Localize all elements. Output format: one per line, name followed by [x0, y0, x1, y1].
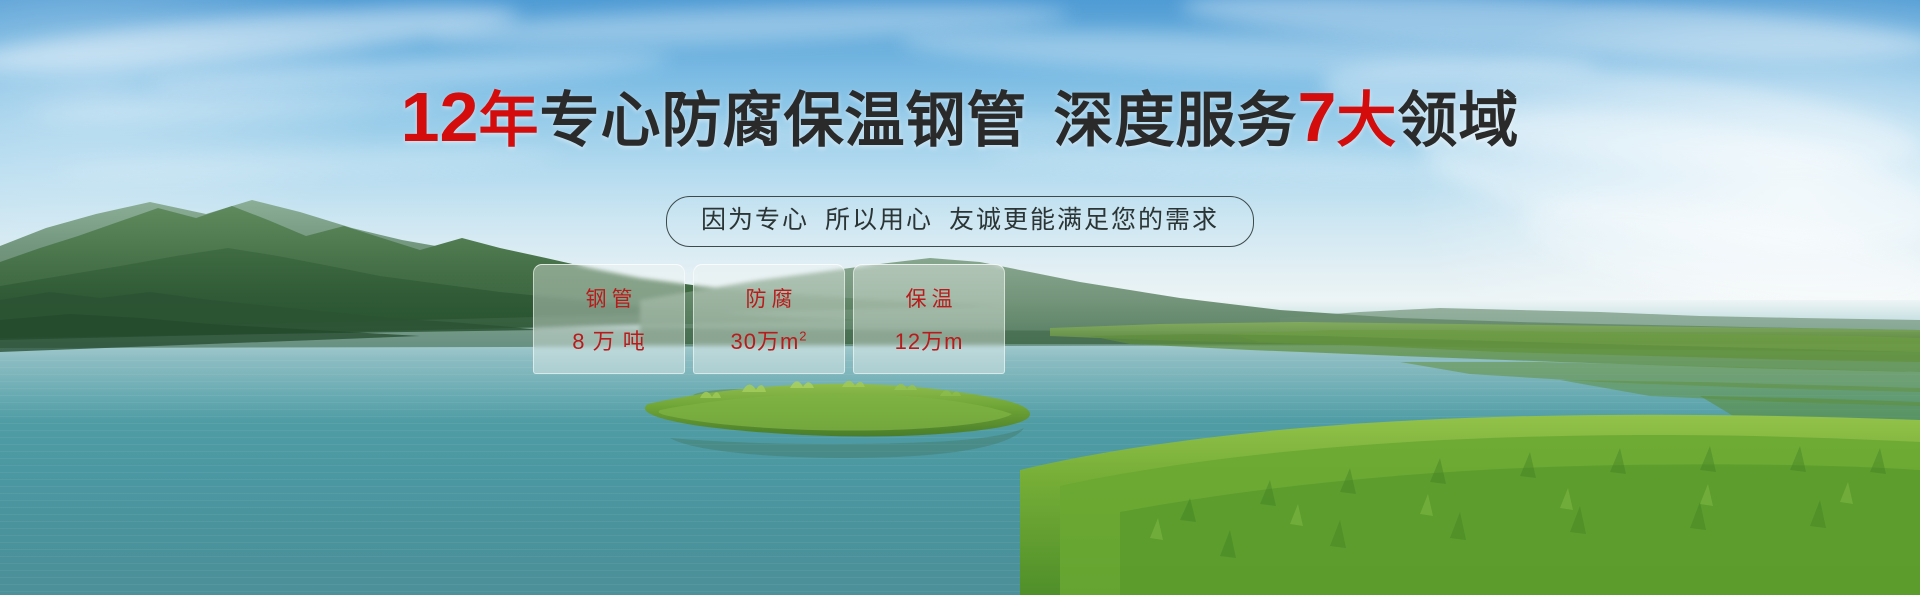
stat-card-title: 钢管: [581, 283, 638, 313]
stat-card-value-text: 30万m: [730, 329, 799, 354]
stat-card-steel-pipe[interactable]: 钢管 8 万 吨: [533, 264, 685, 374]
stat-card-value-text: 8 万 吨: [572, 329, 645, 354]
subtitle-part-3: 友诚更能满足您的需求: [949, 206, 1219, 234]
headline-service-text: 深度服务: [1053, 87, 1297, 154]
headline-years-number: 12: [401, 78, 479, 156]
headline-fields-unit: 大: [1336, 87, 1397, 154]
stat-card-value-superscript: 2: [799, 328, 807, 343]
headline-fields-number: 7: [1297, 78, 1336, 156]
stat-card-value: 12万m: [895, 324, 964, 356]
banner-subtitle-pill: 因为专心所以用心友诚更能满足您的需求: [666, 196, 1254, 247]
banner-subtitle-wrapper: 因为专心所以用心友诚更能满足您的需求: [0, 196, 1920, 247]
headline-main-text: 专心防腐保温钢管: [539, 87, 1027, 154]
subtitle-part-1: 因为专心: [701, 206, 809, 234]
hero-banner: 12年专心防腐保温钢管深度服务7大领域 因为专心所以用心友诚更能满足您的需求 钢…: [0, 0, 1920, 595]
stat-card-value-text: 12万m: [895, 329, 964, 354]
stat-card-value: 8 万 吨: [572, 324, 645, 356]
subtitle-part-2: 所以用心: [825, 206, 933, 234]
headline-tail-text: 领域: [1397, 87, 1519, 154]
stat-card-insulation[interactable]: 保温 12万m: [853, 264, 1005, 374]
stat-card-title: 保温: [901, 283, 958, 313]
stat-card-value: 30万m2: [730, 324, 807, 356]
banner-headline: 12年专心防腐保温钢管深度服务7大领域: [0, 82, 1920, 152]
stat-card-list: 钢管 8 万 吨 防腐 30万m2 保温 12万m: [533, 264, 1005, 374]
stat-card-title: 防腐: [741, 283, 798, 313]
stat-card-anticorrosion[interactable]: 防腐 30万m2: [693, 264, 845, 374]
headline-years-unit: 年: [478, 87, 539, 154]
